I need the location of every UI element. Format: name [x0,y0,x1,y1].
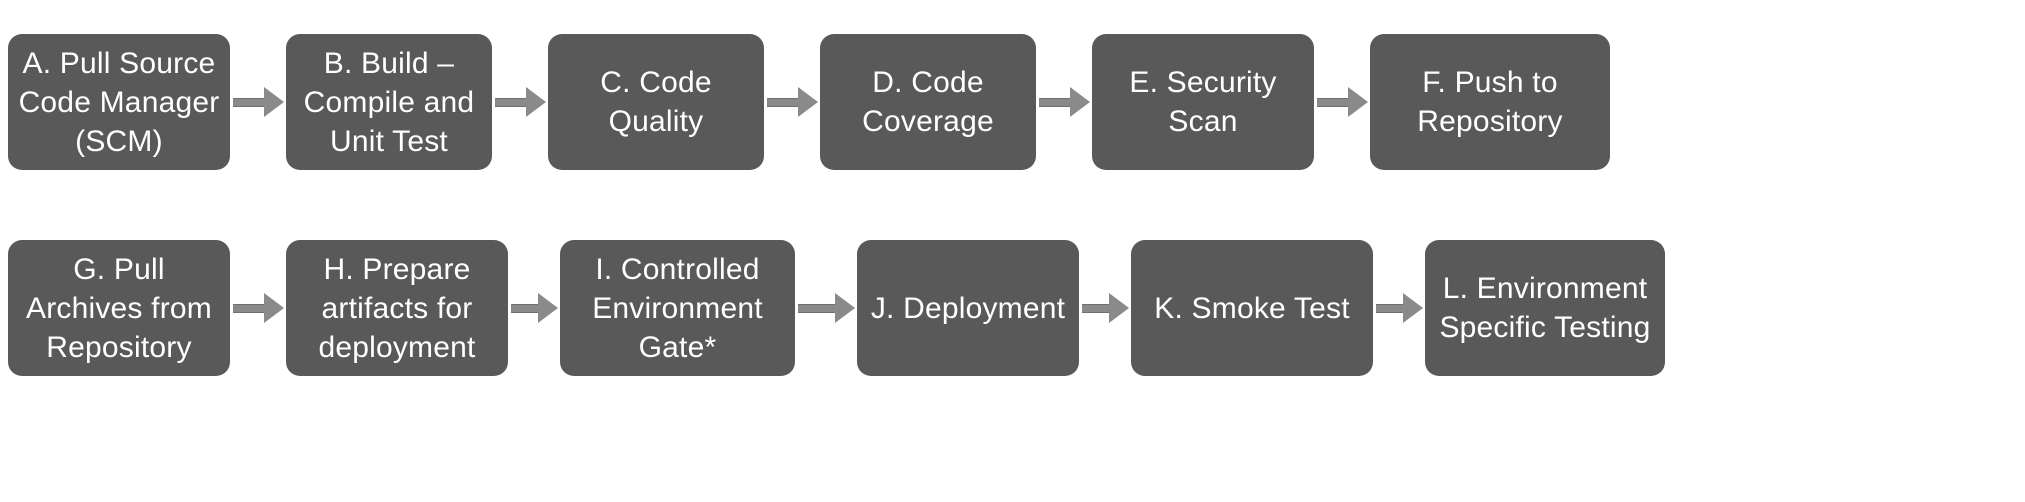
flow-node-b[interactable]: B. Build – Compile and Unit Test [286,34,492,170]
flow-node-g-label: G. Pull Archives from Repository [26,250,212,367]
flow-node-e[interactable]: E. Security Scan [1092,34,1314,170]
arrow-head-icon [1348,87,1368,117]
arrow-shaft [233,304,265,313]
flow-node-d-label: D. Code Coverage [862,63,994,141]
arrow-shaft [511,304,539,313]
flow-arrow-b-c [492,28,548,176]
flow-arrow-c-d [764,28,820,176]
pipeline-flowchart: A. Pull Source Code Manager (SCM) B. Bui… [0,0,2025,502]
flow-node-k-label: K. Smoke Test [1154,289,1349,328]
flow-node-b-label: B. Build – Compile and Unit Test [304,44,475,161]
flow-arrow-e-f [1314,28,1370,176]
flow-arrow-g-h [230,234,286,382]
flow-node-i-label: I. Controlled Environment Gate* [592,250,763,367]
arrow-shaft [233,98,265,107]
arrow-shaft [495,98,527,107]
flow-arrow-a-b [230,28,286,176]
flow-node-g[interactable]: G. Pull Archives from Repository [8,240,230,376]
flow-arrow-k-l [1373,234,1425,382]
arrow-head-icon [264,87,284,117]
flow-node-f[interactable]: F. Push to Repository [1370,34,1610,170]
flow-node-j-label: J. Deployment [871,289,1065,328]
flow-node-i[interactable]: I. Controlled Environment Gate* [560,240,795,376]
arrow-shaft [1082,304,1110,313]
flow-node-a[interactable]: A. Pull Source Code Manager (SCM) [8,34,230,170]
flow-node-f-label: F. Push to Repository [1417,63,1562,141]
flow-node-h[interactable]: H. Prepare artifacts for deployment [286,240,508,376]
flow-arrow-d-e [1036,28,1092,176]
arrow-head-icon [1403,293,1423,323]
flow-arrow-h-i [508,234,560,382]
flow-node-k[interactable]: K. Smoke Test [1131,240,1373,376]
flow-node-d[interactable]: D. Code Coverage [820,34,1036,170]
arrow-head-icon [1070,87,1090,117]
arrow-head-icon [1109,293,1129,323]
flow-node-j[interactable]: J. Deployment [857,240,1079,376]
flow-row-continuous-delivery: G. Pull Archives from Repository H. Prep… [0,234,2025,382]
flow-node-e-label: E. Security Scan [1129,63,1276,141]
flow-node-h-label: H. Prepare artifacts for deployment [318,250,475,367]
arrow-head-icon [538,293,558,323]
flow-node-l[interactable]: L. Environment Specific Testing [1425,240,1665,376]
flow-node-a-label: A. Pull Source Code Manager (SCM) [19,44,220,161]
flow-arrow-j-k [1079,234,1131,382]
flow-arrow-i-j [795,234,857,382]
arrow-head-icon [526,87,546,117]
arrow-shaft [1376,304,1404,313]
arrow-head-icon [798,87,818,117]
flow-node-c[interactable]: C. Code Quality [548,34,764,170]
arrow-head-icon [835,293,855,323]
arrow-shaft [1039,98,1071,107]
arrow-head-icon [264,293,284,323]
arrow-shaft [798,304,836,313]
flow-node-l-label: L. Environment Specific Testing [1439,269,1650,347]
arrow-shaft [767,98,799,107]
flow-node-c-label: C. Code Quality [600,63,711,141]
flow-row-continuous-integration: A. Pull Source Code Manager (SCM) B. Bui… [0,28,2025,176]
arrow-shaft [1317,98,1349,107]
